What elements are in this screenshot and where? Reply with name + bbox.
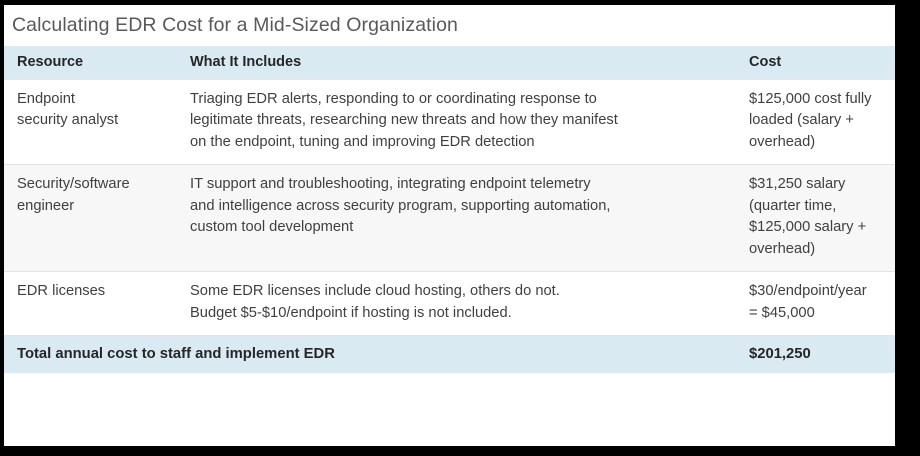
text-line: and intelligence across security program…: [190, 196, 728, 218]
text-line: legitimate threats, researching new thre…: [190, 110, 728, 132]
text-line: security analyst: [17, 110, 169, 132]
cell-includes: IT support and troubleshooting, integrat…: [177, 165, 736, 272]
text-line: EDR licenses: [17, 281, 169, 303]
table-body: Endpoint security analyst Triaging EDR a…: [4, 79, 895, 373]
cell-cost: $31,250 salary (quarter time, $125,000 s…: [736, 165, 895, 272]
column-header-cost: Cost: [736, 46, 895, 79]
text-line: custom tool development: [190, 217, 728, 239]
text-line: overhead): [749, 132, 887, 154]
table-header-row: Resource What It Includes Cost: [4, 46, 895, 79]
text-line: loaded (salary +: [749, 110, 887, 132]
text-line: $125,000 cost fully: [749, 89, 887, 111]
column-header-what-it-includes: What It Includes: [177, 46, 736, 79]
image-frame: Calculating EDR Cost for a Mid-Sized Org…: [0, 0, 920, 456]
cell-cost: $30/endpoint/year = $45,000: [736, 272, 895, 336]
cell-resource: EDR licenses: [4, 272, 177, 336]
table-row: Endpoint security analyst Triaging EDR a…: [4, 79, 895, 165]
text-line: (quarter time,: [749, 196, 887, 218]
table-header: Resource What It Includes Cost: [4, 46, 895, 79]
cell-includes: Some EDR licenses include cloud hosting,…: [177, 272, 736, 336]
table-row: Security/software engineer IT support an…: [4, 165, 895, 272]
text-line: Endpoint: [17, 89, 169, 111]
page-title: Calculating EDR Cost for a Mid-Sized Org…: [4, 5, 895, 46]
text-line: $30/endpoint/year: [749, 281, 887, 303]
text-line: Triaging EDR alerts, responding to or co…: [190, 89, 728, 111]
edr-cost-table: Resource What It Includes Cost Endpoint …: [4, 46, 895, 373]
table-row: EDR licenses Some EDR licenses include c…: [4, 272, 895, 336]
cell-resource: Security/software engineer: [4, 165, 177, 272]
table-card: Calculating EDR Cost for a Mid-Sized Org…: [4, 5, 895, 446]
text-line: Some EDR licenses include cloud hosting,…: [190, 281, 728, 303]
text-line: overhead): [749, 239, 887, 261]
cell-includes: Triaging EDR alerts, responding to or co…: [177, 79, 736, 165]
text-line: Security/software: [17, 174, 169, 196]
text-line: = $45,000: [749, 303, 887, 325]
cell-resource: Endpoint security analyst: [4, 79, 177, 165]
column-header-resource: Resource: [4, 46, 177, 79]
text-line: $31,250 salary: [749, 174, 887, 196]
total-label: Total annual cost to staff and implement…: [4, 336, 736, 373]
cell-cost: $125,000 cost fully loaded (salary + ove…: [736, 79, 895, 165]
text-line: IT support and troubleshooting, integrat…: [190, 174, 728, 196]
total-value: $201,250: [736, 336, 895, 373]
text-line: Budget $5-$10/endpoint if hosting is not…: [190, 303, 728, 325]
text-line: $125,000 salary +: [749, 217, 887, 239]
table-total-row: Total annual cost to staff and implement…: [4, 336, 895, 373]
text-line: engineer: [17, 196, 169, 218]
text-line: on the endpoint, tuning and improving ED…: [190, 132, 728, 154]
